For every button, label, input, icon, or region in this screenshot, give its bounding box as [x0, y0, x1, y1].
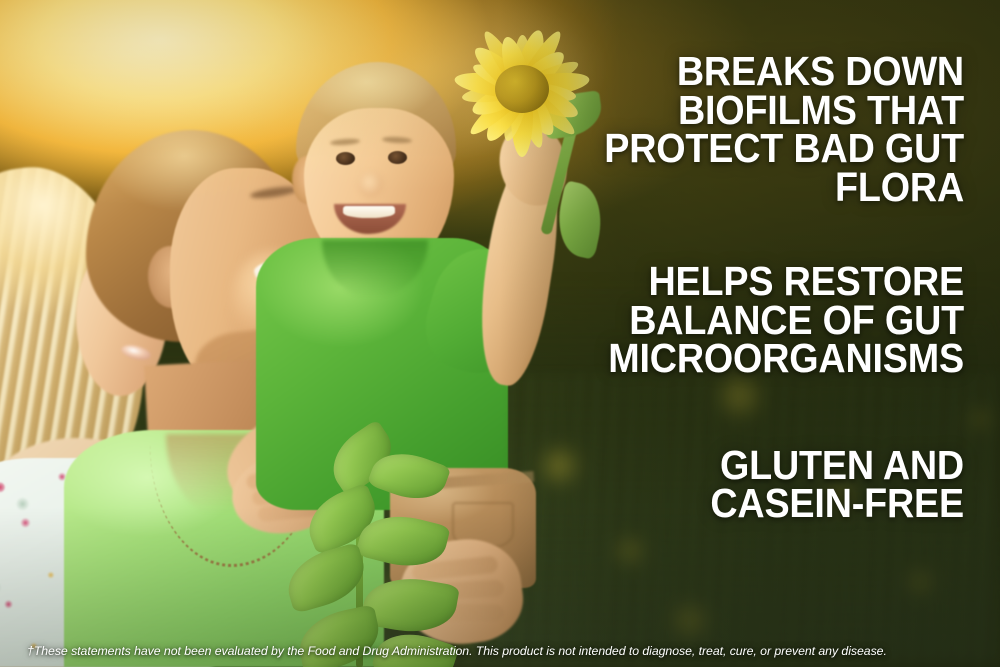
disclaimer-bar: †These statements have not been evaluate… — [0, 635, 1000, 667]
benefit-claim-2: HELPS RESTORE BALANCE OF GUT MICROORGANI… — [568, 262, 964, 378]
product-benefits-banner: BREAKS DOWN BIOFILMS THAT PROTECT BAD GU… — [0, 0, 1000, 667]
fda-disclaimer-text: †These statements have not been evaluate… — [27, 645, 887, 657]
boy-eye-left — [336, 152, 355, 165]
benefit-claim-1: BREAKS DOWN BIOFILMS THAT PROTECT BAD GU… — [568, 52, 964, 206]
boy-eye-right — [388, 151, 407, 164]
foreground-plant — [268, 440, 498, 667]
benefits-copy-column: BREAKS DOWN BIOFILMS THAT PROTECT BAD GU… — [534, 52, 964, 523]
boy-nose — [358, 172, 384, 198]
benefit-claim-3: GLUTEN AND CASEIN-FREE — [568, 446, 964, 523]
boy-teeth — [343, 206, 395, 218]
